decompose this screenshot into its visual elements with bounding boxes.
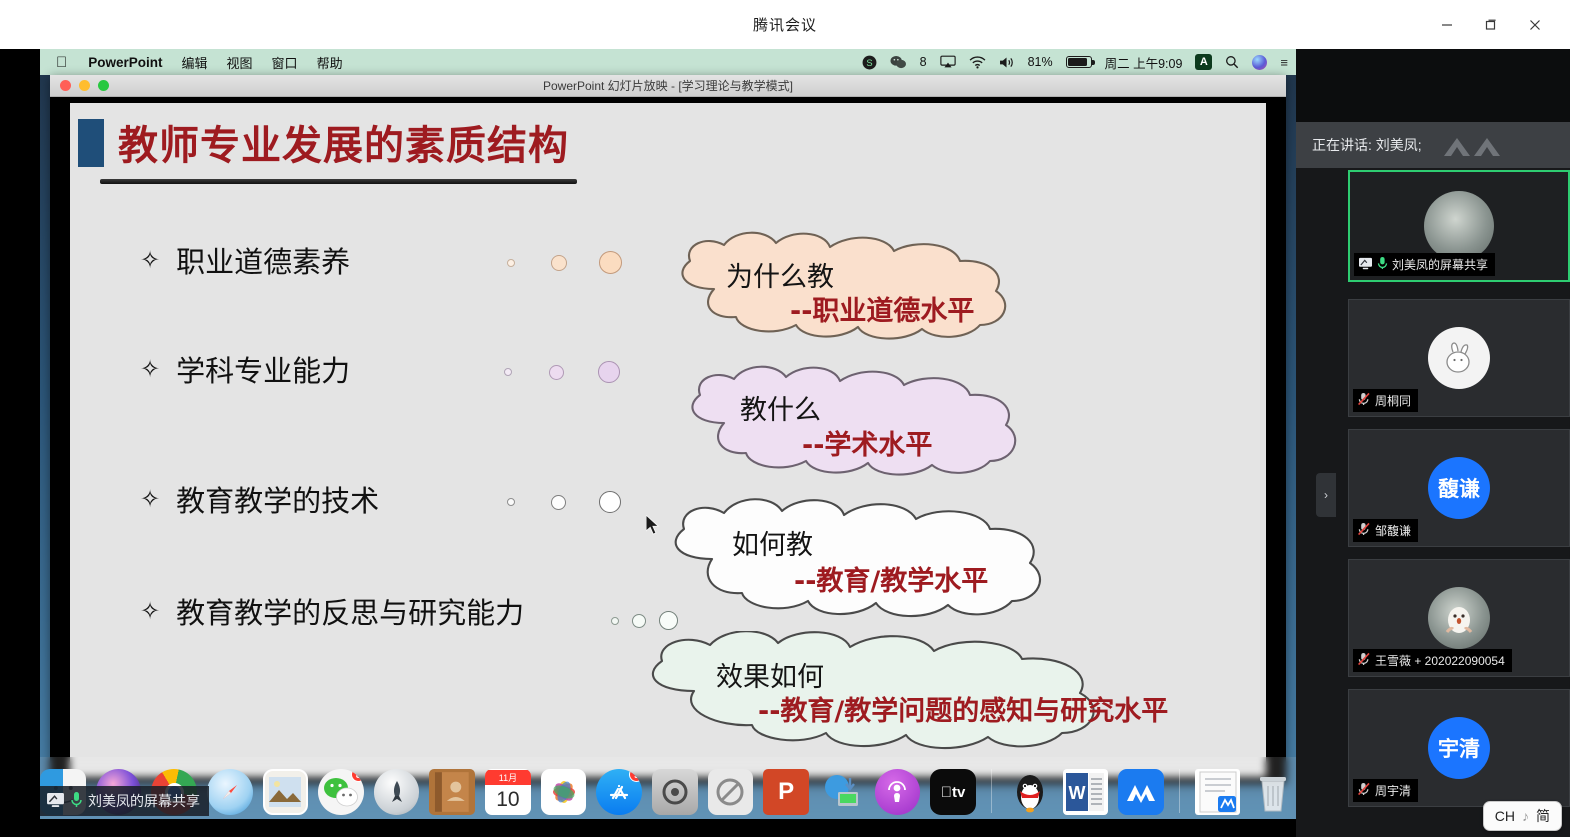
mac-desktop:  PowerPoint 编辑 视图 窗口 帮助 S bbox=[40, 49, 1296, 819]
volume-icon[interactable] bbox=[999, 56, 1015, 69]
dock-item-wps[interactable] bbox=[1118, 769, 1164, 815]
trail-dot-large bbox=[598, 361, 620, 383]
wechat-badge: 8 bbox=[351, 769, 364, 782]
cloud-3-question: 如何教 bbox=[732, 523, 813, 562]
avatar bbox=[1428, 327, 1490, 389]
speaking-indicator-label: 正在讲话: 刘美凤; bbox=[1312, 135, 1422, 155]
avatar bbox=[1428, 587, 1490, 649]
app-titlebar: 腾讯会议 bbox=[0, 0, 1570, 49]
dock-item-app-store[interactable]: 9 bbox=[596, 769, 642, 815]
participant-tile-3[interactable]: 馥谦 邹馥谦 bbox=[1348, 429, 1570, 547]
slide-cloud-2: 教什么 --学术水平 bbox=[666, 365, 1062, 477]
trail-dot-small bbox=[507, 498, 515, 506]
slideshow-stage: 教师专业发展的素质结构 ✧ 职业道德素养 bbox=[50, 97, 1286, 783]
cloud-2-answer: --学术水平 bbox=[802, 423, 932, 462]
diamond-bullet-icon: ✧ bbox=[140, 485, 160, 513]
photo-avatar-icon bbox=[1437, 596, 1481, 640]
ime-separator: ♪ bbox=[1522, 808, 1529, 824]
participant-tile-5-label-wrap: 周宇清 bbox=[1353, 779, 1418, 802]
trail-dot-large bbox=[599, 491, 621, 513]
participant-tile-3-label-wrap: 邹馥谦 bbox=[1353, 519, 1418, 542]
trail-dot-medium bbox=[551, 255, 567, 271]
participant-tile-2[interactable]: 周桐同 bbox=[1348, 299, 1570, 417]
diamond-bullet-icon: ✧ bbox=[140, 597, 160, 625]
trail-dots-1 bbox=[507, 251, 622, 274]
minimize-icon[interactable] bbox=[1434, 12, 1460, 38]
tencent-meeting-window: 腾讯会议  bbox=[0, 0, 1570, 837]
trail-dot-small bbox=[611, 617, 619, 625]
dock-item-apple-tv[interactable]: tv bbox=[930, 769, 976, 815]
dock-item-preview[interactable] bbox=[263, 769, 309, 815]
battery-percent-label: 81% bbox=[1028, 55, 1053, 69]
trail-dot-small bbox=[507, 259, 515, 267]
speaking-indicator: 正在讲话: 刘美凤; bbox=[1296, 122, 1570, 168]
microphone-icon bbox=[1377, 256, 1388, 273]
slide-bullet-2: ✧ 学科专业能力 bbox=[140, 348, 350, 390]
trail-dot-medium bbox=[549, 365, 564, 380]
battery-icon bbox=[1066, 56, 1092, 68]
dock-item-trash[interactable] bbox=[1250, 769, 1296, 815]
shared-screen-region:  PowerPoint 编辑 视图 窗口 帮助 S bbox=[0, 49, 1296, 837]
microphone-muted-icon bbox=[1357, 652, 1371, 669]
dock-item-wechat[interactable]: 8 bbox=[318, 769, 364, 815]
participant-tile-1[interactable]: 刘美凤的屏幕共享 bbox=[1348, 170, 1570, 282]
participant-tile-4-label-wrap: 王雪薇 + 202022090054 bbox=[1353, 649, 1512, 672]
rabbit-avatar-icon bbox=[1440, 340, 1478, 376]
wechat-icon[interactable] bbox=[890, 55, 907, 70]
dock-item-powerpoint[interactable]: P bbox=[763, 769, 809, 815]
siri-icon[interactable] bbox=[1252, 55, 1267, 70]
menu-item-window[interactable]: 窗口 bbox=[272, 53, 298, 72]
dock-item-system-preferences[interactable] bbox=[652, 769, 698, 815]
dock-separator bbox=[991, 769, 992, 813]
microphone-muted-icon bbox=[1357, 392, 1371, 409]
menu-item-view[interactable]: 视图 bbox=[227, 53, 253, 72]
slide-bullet-3: ✧ 教育教学的技术 bbox=[140, 478, 379, 520]
avatar: 馥谦 bbox=[1428, 457, 1490, 519]
trail-dot-small bbox=[504, 368, 512, 376]
slide-canvas: 教师专业发展的素质结构 ✧ 职业道德素养 bbox=[70, 103, 1266, 777]
control-center-icon[interactable]: ≡ bbox=[1280, 55, 1288, 70]
screen-share-icon bbox=[46, 792, 65, 811]
close-icon[interactable] bbox=[1522, 12, 1548, 38]
slide-bullet-3-text: 教育教学的技术 bbox=[176, 478, 379, 520]
avatar bbox=[1424, 191, 1494, 261]
trail-dots-3 bbox=[507, 491, 621, 513]
svg-text:W: W bbox=[1069, 783, 1086, 803]
dock-item-podcasts[interactable] bbox=[875, 769, 921, 815]
powerpoint-window: PowerPoint 幻灯片放映 - [学习理论与教学模式] 教师专业发展的素质… bbox=[50, 75, 1286, 783]
microphone-muted-icon bbox=[1357, 782, 1371, 799]
input-source-icon[interactable]: A bbox=[1195, 54, 1212, 70]
calendar-month-label: 11月 bbox=[485, 770, 531, 785]
wechat-unread-count: 8 bbox=[920, 55, 927, 69]
rail-top-spacer bbox=[1296, 49, 1570, 122]
participant-rail: 正在讲话: 刘美凤; 刘美凤的屏幕共享 bbox=[1296, 49, 1570, 837]
collapse-rail-button[interactable]: › bbox=[1316, 473, 1336, 517]
spotlight-search-icon[interactable] bbox=[1225, 55, 1239, 69]
dock-item-do-not-disturb[interactable] bbox=[708, 769, 754, 815]
apple-logo-icon[interactable]:  bbox=[56, 55, 67, 70]
slide-title-accent-bar bbox=[78, 119, 104, 167]
mac-dock: 8 11月 10 bbox=[40, 757, 1296, 819]
maximize-icon[interactable] bbox=[1478, 12, 1504, 38]
menu-item-powerpoint[interactable]: PowerPoint bbox=[88, 55, 162, 70]
ime-language: CH bbox=[1495, 808, 1515, 824]
slide-bullet-1: ✧ 职业道德素养 bbox=[140, 239, 350, 281]
dock-item-contacts[interactable] bbox=[429, 769, 475, 815]
screen-share-icon bbox=[1358, 257, 1373, 273]
participant-tile-5-label: 周宇清 bbox=[1375, 782, 1411, 799]
menu-item-help[interactable]: 帮助 bbox=[317, 53, 343, 72]
window-controls bbox=[1434, 0, 1560, 49]
dock-item-remote-desktop[interactable] bbox=[819, 769, 865, 815]
powerpoint-window-title: PowerPoint 幻灯片放映 - [学习理论与教学模式] bbox=[50, 77, 1286, 94]
cloud-2-question: 教什么 bbox=[740, 388, 821, 427]
dock-item-safari[interactable] bbox=[207, 769, 253, 815]
dock-item-photos[interactable] bbox=[541, 769, 587, 815]
dock-item-qq[interactable] bbox=[1007, 769, 1053, 815]
dock-item-word[interactable]: W bbox=[1063, 769, 1109, 815]
slide-cloud-4: 效果如何 --教育/教学问题的感知与研究水平 bbox=[618, 631, 1178, 751]
trail-dot-medium bbox=[551, 495, 566, 510]
slide-cloud-1: 为什么教 --职业道德水平 bbox=[654, 231, 1054, 341]
diamond-bullet-icon: ✧ bbox=[140, 355, 160, 383]
cloud-4-answer: --教育/教学问题的感知与研究水平 bbox=[758, 689, 1168, 728]
slide-cloud-3: 如何教 --教育/教学水平 bbox=[648, 497, 1096, 621]
participant-tile-2-label: 周桐同 bbox=[1375, 392, 1411, 409]
trail-dot-large bbox=[599, 251, 622, 274]
participant-tile-3-label: 邹馥谦 bbox=[1375, 522, 1411, 539]
ime-mode: 简 bbox=[1536, 806, 1550, 826]
calendar-day-label: 10 bbox=[496, 785, 519, 815]
microphone-icon bbox=[70, 791, 83, 811]
slide-bullet-4-text: 教育教学的反思与研究能力 bbox=[176, 590, 524, 632]
cloud-3-answer: --教育/教学水平 bbox=[794, 559, 988, 598]
wifi-icon[interactable] bbox=[969, 56, 986, 69]
app-store-badge: 9 bbox=[629, 769, 642, 782]
trail-dot-medium bbox=[632, 614, 646, 628]
trail-dots-2 bbox=[504, 361, 620, 383]
slide-bullet-1-text: 职业道德素养 bbox=[176, 239, 350, 281]
screen-share-banner-label: 刘美凤的屏幕共享 bbox=[88, 791, 200, 811]
dock-item-launchpad[interactable] bbox=[374, 769, 420, 815]
airplay-icon[interactable] bbox=[940, 55, 956, 69]
svg-text:S: S bbox=[866, 57, 872, 67]
participant-tile-5[interactable]: 宇清 周宇清 bbox=[1348, 689, 1570, 807]
slide-bullet-4: ✧ 教育教学的反思与研究能力 bbox=[140, 590, 524, 632]
powerpoint-titlebar: PowerPoint 幻灯片放映 - [学习理论与教学模式] bbox=[50, 75, 1286, 97]
menu-item-edit[interactable]: 编辑 bbox=[182, 53, 208, 72]
dock-item-documents-stack[interactable] bbox=[1195, 769, 1241, 815]
avatar: 宇清 bbox=[1428, 717, 1490, 779]
participant-tile-1-label-wrap: 刘美凤的屏幕共享 bbox=[1354, 253, 1495, 276]
participant-tile-2-label-wrap: 周桐同 bbox=[1353, 389, 1418, 412]
slide-bullet-2-text: 学科专业能力 bbox=[176, 348, 350, 390]
participant-tile-4-label: 王雪薇 + 202022090054 bbox=[1375, 652, 1505, 669]
dock-item-calendar[interactable]: 11月 10 bbox=[485, 769, 531, 815]
participant-tile-1-label: 刘美凤的屏幕共享 bbox=[1392, 256, 1488, 273]
sogou-input-icon[interactable]: S bbox=[862, 55, 877, 70]
app-title: 腾讯会议 bbox=[753, 14, 817, 35]
microphone-muted-icon bbox=[1357, 522, 1371, 539]
cloud-1-answer: --职业道德水平 bbox=[790, 289, 974, 328]
mac-menu-bar:  PowerPoint 编辑 视图 窗口 帮助 S bbox=[40, 49, 1296, 75]
diamond-bullet-icon: ✧ bbox=[140, 246, 160, 274]
ime-indicator[interactable]: CH ♪ 简 bbox=[1483, 801, 1562, 831]
screen-share-banner: 刘美凤的屏幕共享 bbox=[40, 786, 209, 816]
slide-title: 教师专业发展的素质结构 bbox=[118, 113, 569, 171]
dock-separator bbox=[1179, 769, 1180, 813]
participant-tile-4[interactable]: 王雪薇 + 202022090054 bbox=[1348, 559, 1570, 677]
slide-title-underline bbox=[100, 179, 577, 184]
menubar-clock[interactable]: 周二 上午9:09 bbox=[1105, 53, 1183, 72]
tencent-meeting-logo-icon bbox=[1438, 134, 1508, 160]
